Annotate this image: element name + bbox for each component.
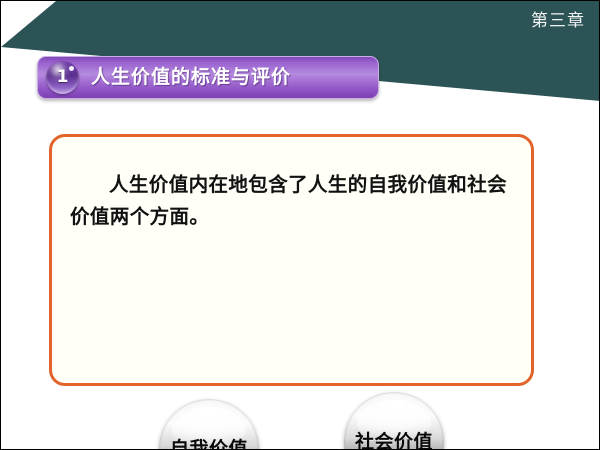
badge-number: 1 bbox=[57, 69, 69, 86]
sphere-social-value[interactable]: 社会价值 bbox=[344, 392, 444, 450]
sphere-label: 社会价值 bbox=[355, 433, 433, 450]
number-badge-icon: 1 bbox=[46, 61, 79, 94]
presentation-slide: 第三章 1 人生价值的标准与评价 人生价值内在地包含了人生的自我价值和社会价值两… bbox=[0, 0, 600, 450]
slide-title: 人生价值的标准与评价 bbox=[91, 68, 291, 87]
content-box: 人生价值内在地包含了人生的自我价值和社会价值两个方面。 自我价值 社会价值 bbox=[49, 134, 534, 386]
title-banner[interactable]: 1 人生价值的标准与评价 bbox=[37, 56, 379, 99]
sphere-self-value[interactable]: 自我价值 bbox=[159, 399, 259, 450]
body-paragraph: 人生价值内在地包含了人生的自我价值和社会价值两个方面。 bbox=[70, 169, 518, 233]
sphere-label: 自我价值 bbox=[170, 440, 248, 450]
chapter-label: 第三章 bbox=[531, 13, 585, 30]
badge-highlight-dot-icon bbox=[69, 66, 74, 71]
